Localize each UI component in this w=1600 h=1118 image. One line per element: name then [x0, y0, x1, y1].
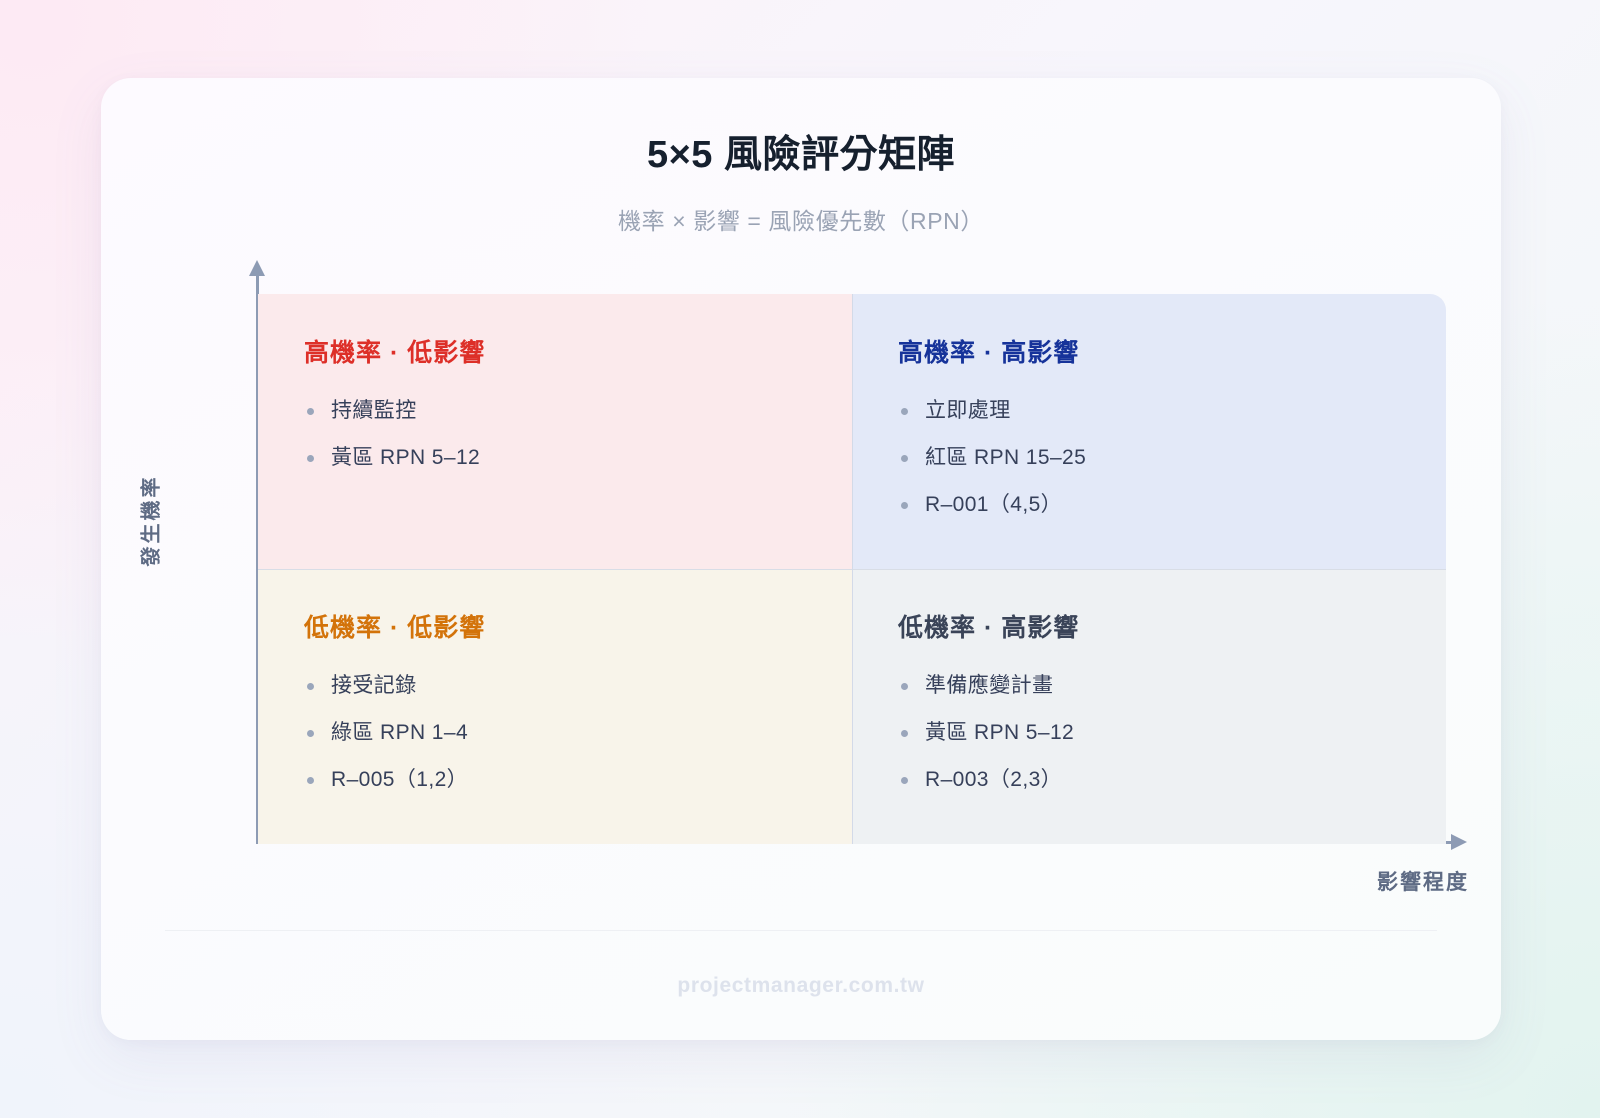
list-item: R–003（2,3）: [898, 766, 1446, 793]
quadrant-high-prob-low-impact[interactable]: 高機率 · 低影響 持續監控 黃區 RPN 5–12: [258, 294, 852, 569]
quadrant-title: 低機率 · 高影響: [898, 613, 1446, 643]
quadrant-title: 高機率 · 低影響: [304, 338, 852, 368]
quadrant-low-prob-high-impact[interactable]: 低機率 · 高影響 準備應變計畫 黃區 RPN 5–12 R–003（2,3）: [852, 569, 1446, 844]
quadrant-grid: 高機率 · 低影響 持續監控 黃區 RPN 5–12 高機率 · 高影響 立即處…: [258, 294, 1446, 844]
matrix-area: 發生機率 影響程度 高機率 · 低影響 持續監控 黃區 RPN 5–12 高機率…: [101, 274, 1501, 894]
list-item: R–005（1,2）: [304, 766, 852, 793]
card-header: 5×5 風險評分矩陣 機率 × 影響 = 風險優先數（RPN）: [101, 132, 1501, 236]
quadrant-title: 高機率 · 高影響: [898, 338, 1446, 368]
list-item: 綠區 RPN 1–4: [304, 719, 852, 746]
list-item: 持續監控: [304, 397, 852, 424]
list-item: 紅區 RPN 15–25: [898, 444, 1446, 471]
quadrant-low-prob-low-impact[interactable]: 低機率 · 低影響 接受記錄 綠區 RPN 1–4 R–005（1,2）: [258, 569, 852, 844]
quadrant-title: 低機率 · 低影響: [304, 613, 852, 643]
risk-matrix-card: 5×5 風險評分矩陣 機率 × 影響 = 風險優先數（RPN） 發生機率 影響程…: [101, 78, 1501, 1040]
list-item: 黃區 RPN 5–12: [304, 444, 852, 471]
quadrant-item-list: 立即處理 紅區 RPN 15–25 R–001（4,5）: [898, 397, 1446, 519]
card-footer: projectmanager.com.tw: [165, 930, 1437, 1040]
list-item: 黃區 RPN 5–12: [898, 719, 1446, 746]
quadrant-item-list: 持續監控 黃區 RPN 5–12: [304, 397, 852, 472]
list-item: 準備應變計畫: [898, 672, 1446, 699]
page-subtitle: 機率 × 影響 = 風險優先數（RPN）: [101, 202, 1501, 236]
quadrant-item-list: 接受記錄 綠區 RPN 1–4 R–005（1,2）: [304, 672, 852, 794]
y-axis-label: 發生機率: [135, 450, 164, 590]
x-axis-label: 影響程度: [1377, 866, 1469, 896]
quadrant-item-list: 準備應變計畫 黃區 RPN 5–12 R–003（2,3）: [898, 672, 1446, 794]
list-item: 立即處理: [898, 397, 1446, 424]
page-title: 5×5 風險評分矩陣: [101, 132, 1501, 180]
footer-site-name: projectmanager.com.tw: [677, 974, 924, 998]
quadrant-high-prob-high-impact[interactable]: 高機率 · 高影響 立即處理 紅區 RPN 15–25 R–001（4,5）: [852, 294, 1446, 569]
list-item: 接受記錄: [304, 672, 852, 699]
list-item: R–001（4,5）: [898, 491, 1446, 518]
